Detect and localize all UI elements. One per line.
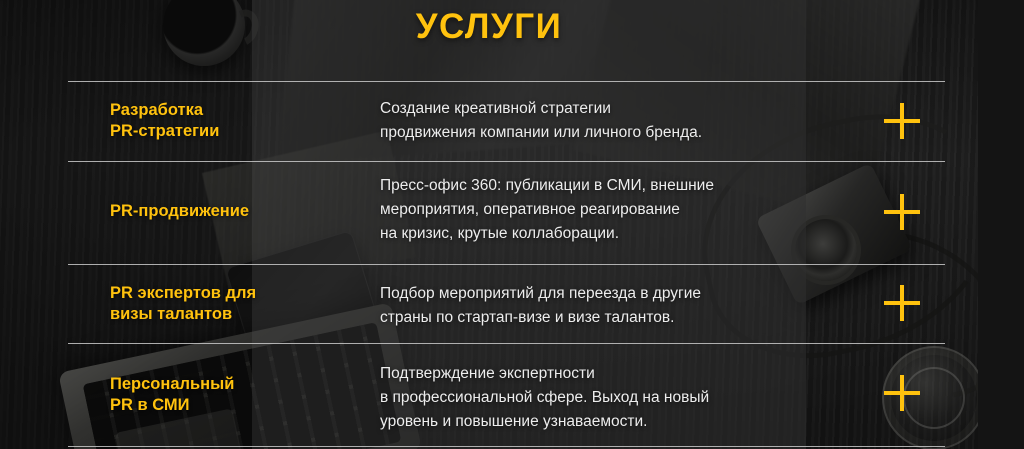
- page-title: УСЛУГИ: [0, 7, 978, 47]
- plus-icon[interactable]: [884, 103, 920, 139]
- service-description-line: Подтверждение экспертности: [380, 362, 800, 386]
- service-description-line: на кризис, крутые коллаборации.: [380, 222, 800, 246]
- service-title-line: Персональный: [110, 374, 375, 395]
- plus-icon[interactable]: [884, 194, 920, 230]
- service-title: PR экспертов для визы талантов: [110, 283, 375, 325]
- service-title-line: PR экспертов для: [110, 283, 375, 304]
- service-description: Подбор мероприятий для переезда в другие…: [380, 282, 800, 330]
- divider-top: [68, 81, 945, 82]
- service-title: PR-продвижение: [110, 201, 375, 222]
- service-description-line: Подбор мероприятий для переезда в другие: [380, 282, 800, 306]
- service-title-line: PR-продвижение: [110, 201, 375, 222]
- service-description-line: Создание креативной стратегии: [380, 97, 800, 121]
- service-description: Пресс-офис 360: публикации в СМИ, внешни…: [380, 174, 800, 246]
- plus-icon[interactable]: [884, 375, 920, 411]
- divider-3: [68, 343, 945, 344]
- divider-bottom: [68, 446, 945, 447]
- service-description-line: мероприятия, оперативное реагирование: [380, 198, 800, 222]
- service-description-line: Пресс-офис 360: публикации в СМИ, внешни…: [380, 174, 800, 198]
- service-title: Персональный PR в СМИ: [110, 374, 375, 416]
- service-title-line: Разработка: [110, 100, 375, 121]
- plus-icon[interactable]: [884, 285, 920, 321]
- service-description-line: продвижения компании или личного бренда.: [380, 121, 800, 145]
- service-description: Подтверждение экспертности в профессиона…: [380, 362, 800, 434]
- divider-2: [68, 264, 945, 265]
- service-description-line: уровень и повышение узнаваемости.: [380, 410, 800, 434]
- service-title-line: PR-стратегии: [110, 121, 375, 142]
- service-description: Создание креативной стратегии продвижени…: [380, 97, 800, 145]
- service-description-line: страны по стартап-визе и визе талантов.: [380, 306, 800, 330]
- service-title-line: визы талантов: [110, 304, 375, 325]
- divider-1: [68, 161, 945, 162]
- services-section: УСЛУГИ Разработка PR-стратегии Создание …: [0, 0, 1024, 449]
- service-title: Разработка PR-стратегии: [110, 100, 375, 142]
- service-title-line: PR в СМИ: [110, 395, 375, 416]
- service-description-line: в профессиональной сфере. Выход на новый: [380, 386, 800, 410]
